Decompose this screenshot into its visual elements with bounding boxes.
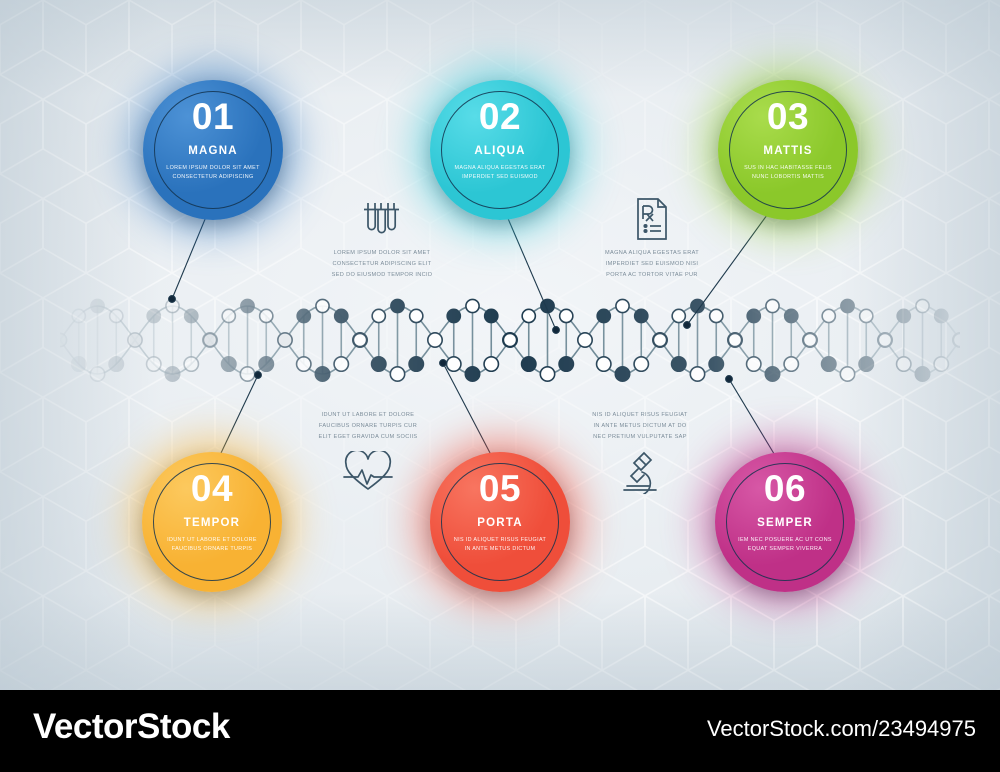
step-desc-01-line2: CONSECTETUR ADIPISCING [157, 173, 269, 182]
step-number-02: 02 [479, 98, 521, 135]
step-desc-02: MAGNA ALIQUA EGESTAS ERAT IMPERDIET SED … [444, 164, 556, 183]
step-desc-03-line2: NUNC LOBORTIS MATTIS [732, 173, 844, 182]
step-title-02: ALIQUA [474, 145, 525, 157]
vectorstock-logo: VectorStock [33, 707, 230, 747]
step-number-01: 01 [192, 98, 234, 135]
step-desc-06: IEM NEC POSUERE AC UT CONS EQUAT SEMPER … [729, 536, 841, 555]
step-title-05: PORTA [477, 517, 522, 529]
step-title-03: MATTIS [763, 145, 812, 157]
step-desc-05: NIS ID ALIQUET RISUS FEUGIAT IN ANTE MET… [444, 536, 556, 555]
info-3-line3: NEC PRETIUM VULPUTATE SAP [560, 432, 720, 443]
infographic-screenshot: 01 MAGNA LOREM IPSUM DOLOR SIT AMET CONS… [0, 0, 1000, 772]
info-1-line1: MAGNA ALIQUA EGESTAS ERAT [572, 248, 732, 259]
step-number-03: 03 [767, 98, 809, 135]
info-block-microscope: NIS ID ALIQUET RISUS FEUGIAT IN ANTE MET… [560, 410, 720, 495]
step-circle-06[interactable]: 06 SEMPER IEM NEC POSUERE AC UT CONS EQU… [715, 452, 855, 592]
info-2-line2: FAUCIBUS ORNARE TURPIS CUR [288, 421, 448, 432]
step-desc-01: LOREM IPSUM DOLOR SIT AMET CONSECTETUR A… [157, 164, 269, 183]
step-circle-04[interactable]: 04 TEMPOR IDUNT UT LABORE ET DOLORE FAUC… [142, 452, 282, 592]
info-text-prescription: MAGNA ALIQUA EGESTAS ERAT IMPERDIET SED … [572, 248, 732, 281]
info-block-heart-pulse: IDUNT UT LABORE ET DOLORE FAUCIBUS ORNAR… [288, 410, 448, 495]
vectorstock-url: VectorStock.com/23494975 [707, 716, 976, 742]
step-desc-03: SUS IN HAC HABITASSE FELIS NUNC LOBORTIS… [732, 164, 844, 183]
step-circle-02[interactable]: 02 ALIQUA MAGNA ALIQUA EGESTAS ERAT IMPE… [430, 80, 570, 220]
step-title-06: SEMPER [757, 517, 813, 529]
step-title-01: MAGNA [188, 145, 237, 157]
heart-pulse-icon [288, 449, 448, 495]
footer-watermark-bar: VectorStock VectorStock.com/23494975 [0, 690, 1000, 772]
info-2-line1: IDUNT UT LABORE ET DOLORE [288, 410, 448, 421]
step-number-04: 04 [191, 470, 233, 507]
info-3-line1: NIS ID ALIQUET RISUS FEUGIAT [560, 410, 720, 421]
info-text-heart-pulse: IDUNT UT LABORE ET DOLORE FAUCIBUS ORNAR… [288, 410, 448, 443]
info-3-line2: IN ANTE METUS DICTUM AT DO [560, 421, 720, 432]
info-0-line2: CONSECTETUR ADIPISCING ELIT [302, 259, 462, 270]
step-circle-03[interactable]: 03 MATTIS SUS IN HAC HABITASSE FELIS NUN… [718, 80, 858, 220]
info-block-prescription: MAGNA ALIQUA EGESTAS ERAT IMPERDIET SED … [572, 196, 732, 281]
info-0-line3: SED DO EIUSMOD TEMPOR INCID [302, 270, 462, 281]
step-desc-06-line2: EQUAT SEMPER VIVERRA [729, 545, 841, 554]
info-text-test-tubes: LOREM IPSUM DOLOR SIT AMET CONSECTETUR A… [302, 248, 462, 281]
step-desc-04: IDUNT UT LABORE ET DOLORE FAUCIBUS ORNAR… [156, 536, 268, 555]
step-desc-05-line1: NIS ID ALIQUET RISUS FEUGIAT [444, 536, 556, 545]
info-2-line3: ELIT EGET GRAVIDA CUM SOCIIS [288, 432, 448, 443]
step-desc-05-line2: IN ANTE METUS DICTUM [444, 545, 556, 554]
step-desc-04-line1: IDUNT UT LABORE ET DOLORE [156, 536, 268, 545]
prescription-rx-icon [572, 196, 732, 242]
step-desc-01-line1: LOREM IPSUM DOLOR SIT AMET [157, 164, 269, 173]
step-desc-02-line1: MAGNA ALIQUA EGESTAS ERAT [444, 164, 556, 173]
info-1-line3: PORTA AC TORTOR VITAE PUR [572, 270, 732, 281]
step-desc-03-line1: SUS IN HAC HABITASSE FELIS [732, 164, 844, 173]
step-circle-05[interactable]: 05 PORTA NIS ID ALIQUET RISUS FEUGIAT IN… [430, 452, 570, 592]
step-title-04: TEMPOR [184, 517, 240, 529]
step-desc-02-line2: IMPERDIET SED EUISMOD [444, 173, 556, 182]
info-text-microscope: NIS ID ALIQUET RISUS FEUGIAT IN ANTE MET… [560, 410, 720, 443]
step-circle-01[interactable]: 01 MAGNA LOREM IPSUM DOLOR SIT AMET CONS… [143, 80, 283, 220]
step-desc-06-line1: IEM NEC POSUERE AC UT CONS [729, 536, 841, 545]
artboard: 01 MAGNA LOREM IPSUM DOLOR SIT AMET CONS… [0, 0, 1000, 690]
step-desc-04-line2: FAUCIBUS ORNARE TURPIS [156, 545, 268, 554]
microscope-icon [560, 449, 720, 495]
step-number-05: 05 [479, 470, 521, 507]
step-number-06: 06 [764, 470, 806, 507]
info-1-line2: IMPERDIET SED EUISMOD NISI [572, 259, 732, 270]
info-0-line1: LOREM IPSUM DOLOR SIT AMET [302, 248, 462, 259]
